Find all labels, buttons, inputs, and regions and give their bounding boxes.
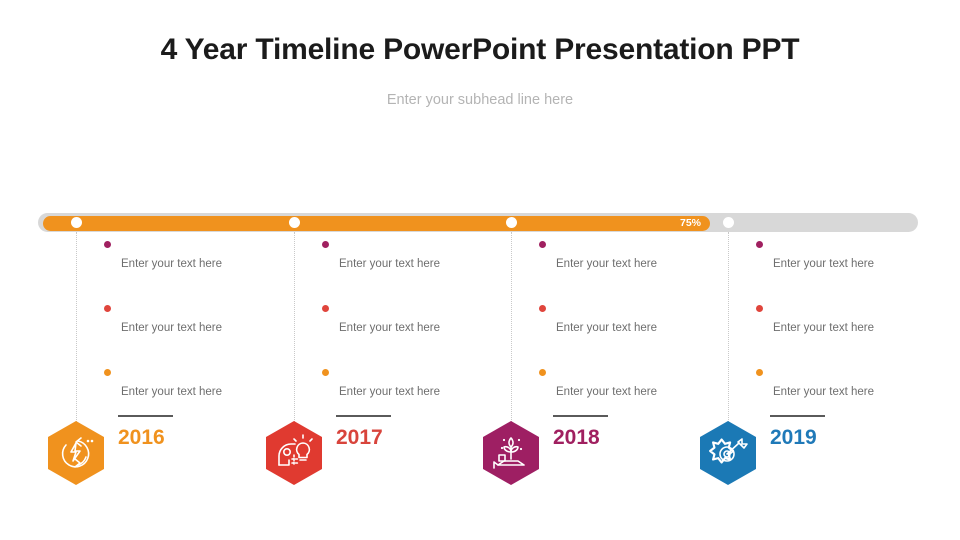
marker-2018[interactable] — [506, 217, 517, 228]
bullet-dot-icon — [104, 305, 111, 312]
bullet-dot-icon — [539, 369, 546, 376]
bullet-text[interactable]: Enter your text here — [556, 322, 657, 334]
timeline-progress-track[interactable]: 75% — [38, 213, 918, 232]
bullet-dot-icon — [322, 241, 329, 248]
bullet-dot-icon — [104, 369, 111, 376]
bullet-text[interactable]: Enter your text here — [556, 386, 657, 398]
year-label[interactable]: 2019 — [770, 426, 817, 450]
year-underline — [553, 415, 608, 417]
bullet-text[interactable]: Enter your text here — [339, 258, 440, 270]
progress-percent-label: 75% — [680, 216, 701, 231]
page-title: 4 Year Timeline PowerPoint Presentation … — [0, 33, 960, 67]
hexagon-badge-2018[interactable] — [483, 421, 539, 485]
hexagon-badge-2016[interactable] — [48, 421, 104, 485]
connector-line-2016 — [76, 232, 77, 428]
year-underline — [770, 415, 825, 417]
bullet-dot-icon — [322, 305, 329, 312]
year-label[interactable]: 2018 — [553, 426, 600, 450]
year-label[interactable]: 2017 — [336, 426, 383, 450]
bullet-text[interactable]: Enter your text here — [556, 258, 657, 270]
bullet-dot-icon — [756, 369, 763, 376]
connector-line-2019 — [728, 232, 729, 428]
hexagon-badge-2017[interactable] — [266, 421, 322, 485]
year-label[interactable]: 2016 — [118, 426, 165, 450]
bullet-dot-icon — [539, 305, 546, 312]
bullet-dot-icon — [756, 241, 763, 248]
timeline-progress-fill: 75% — [43, 216, 710, 231]
bullet-text[interactable]: Enter your text here — [121, 258, 222, 270]
connector-line-2018 — [511, 232, 512, 428]
bullet-text[interactable]: Enter your text here — [773, 386, 874, 398]
bullet-text[interactable]: Enter your text here — [121, 322, 222, 334]
marker-2016[interactable] — [71, 217, 82, 228]
bullet-dot-icon — [322, 369, 329, 376]
bullet-dot-icon — [756, 305, 763, 312]
marker-2019[interactable] — [723, 217, 734, 228]
year-underline — [336, 415, 391, 417]
marker-2017[interactable] — [289, 217, 300, 228]
hexagon-badge-2019[interactable] — [700, 421, 756, 485]
connector-line-2017 — [294, 232, 295, 428]
slide-canvas: 4 Year Timeline PowerPoint Presentation … — [0, 0, 960, 540]
year-underline — [118, 415, 173, 417]
bullet-text[interactable]: Enter your text here — [339, 322, 440, 334]
bullet-text[interactable]: Enter your text here — [773, 322, 874, 334]
bullet-text[interactable]: Enter your text here — [339, 386, 440, 398]
bullet-dot-icon — [104, 241, 111, 248]
bullet-dot-icon — [539, 241, 546, 248]
bullet-text[interactable]: Enter your text here — [121, 386, 222, 398]
page-subhead: Enter your subhead line here — [0, 92, 960, 108]
bullet-text[interactable]: Enter your text here — [773, 258, 874, 270]
